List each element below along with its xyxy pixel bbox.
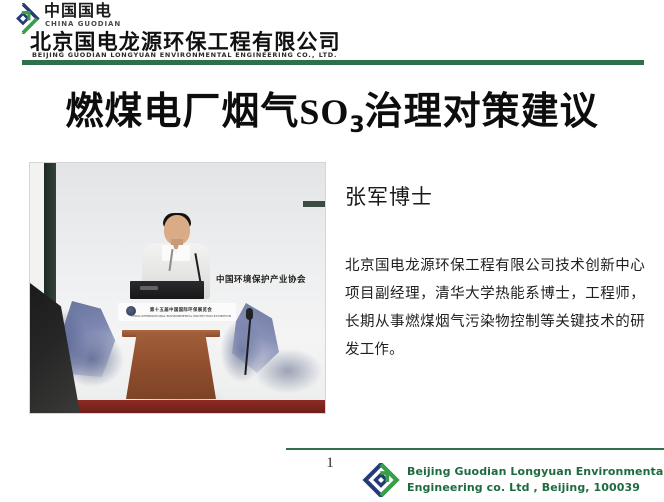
title-subscript: 3 [349, 113, 364, 138]
photo-backdrop-text: 中国环境保护产业协会 [216, 273, 306, 285]
photo-laptop-keyboard [140, 286, 158, 290]
header-divider-rule [22, 60, 644, 65]
photo-podium [126, 333, 216, 399]
speaker-name: 张军博士 [345, 181, 433, 211]
presenter-photo: 中国环境保护产业协会 第十五届中国国际环保展览会 CHINA INTERNATI… [30, 163, 325, 413]
title-part2: 治理对策建议 [365, 89, 599, 133]
company-name-english: BEIJING GUODIAN LONGYUAN ENVIRONMENTAL E… [32, 49, 337, 59]
title-part1: 燃煤电厂烟气 [65, 89, 299, 133]
footer-company-line1: Beijing Guodian Longyuan Environmental [407, 464, 664, 480]
slide-header: 中国国电 CHINA GUODIAN 北京国电龙源环保工程有限公司 BEIJIN… [0, 0, 664, 66]
footer-guodian-diamond-logo-icon [362, 463, 400, 497]
photo-laptop [130, 281, 204, 299]
slide-title: 燃煤电厂烟气SO3治理对策建议 [0, 80, 664, 135]
speaker-bio: 北京国电龙源环保工程有限公司技术创新中心项目副经理，清华大学热能系博士，工程师，… [345, 252, 645, 364]
title-chemical-formula: SO [299, 92, 349, 132]
page-number: 1 [320, 455, 340, 472]
photo-wall-strip [303, 201, 325, 207]
photo-event-banner-subtext: CHINA INTERNATIONAL ENVIRONMENTAL PROTEC… [130, 314, 232, 318]
footer-company-text: Beijing Guodian Longyuan Environmental E… [407, 464, 664, 496]
photo-event-banner-text: 第十五届中国国际环保展览会 [130, 307, 232, 313]
brand-name-chinese: 中国国电 [44, 2, 112, 19]
footer-divider-rule [286, 448, 664, 450]
footer-company-line2: Engineering co. Ltd , Beijing, 100039 [407, 480, 664, 496]
